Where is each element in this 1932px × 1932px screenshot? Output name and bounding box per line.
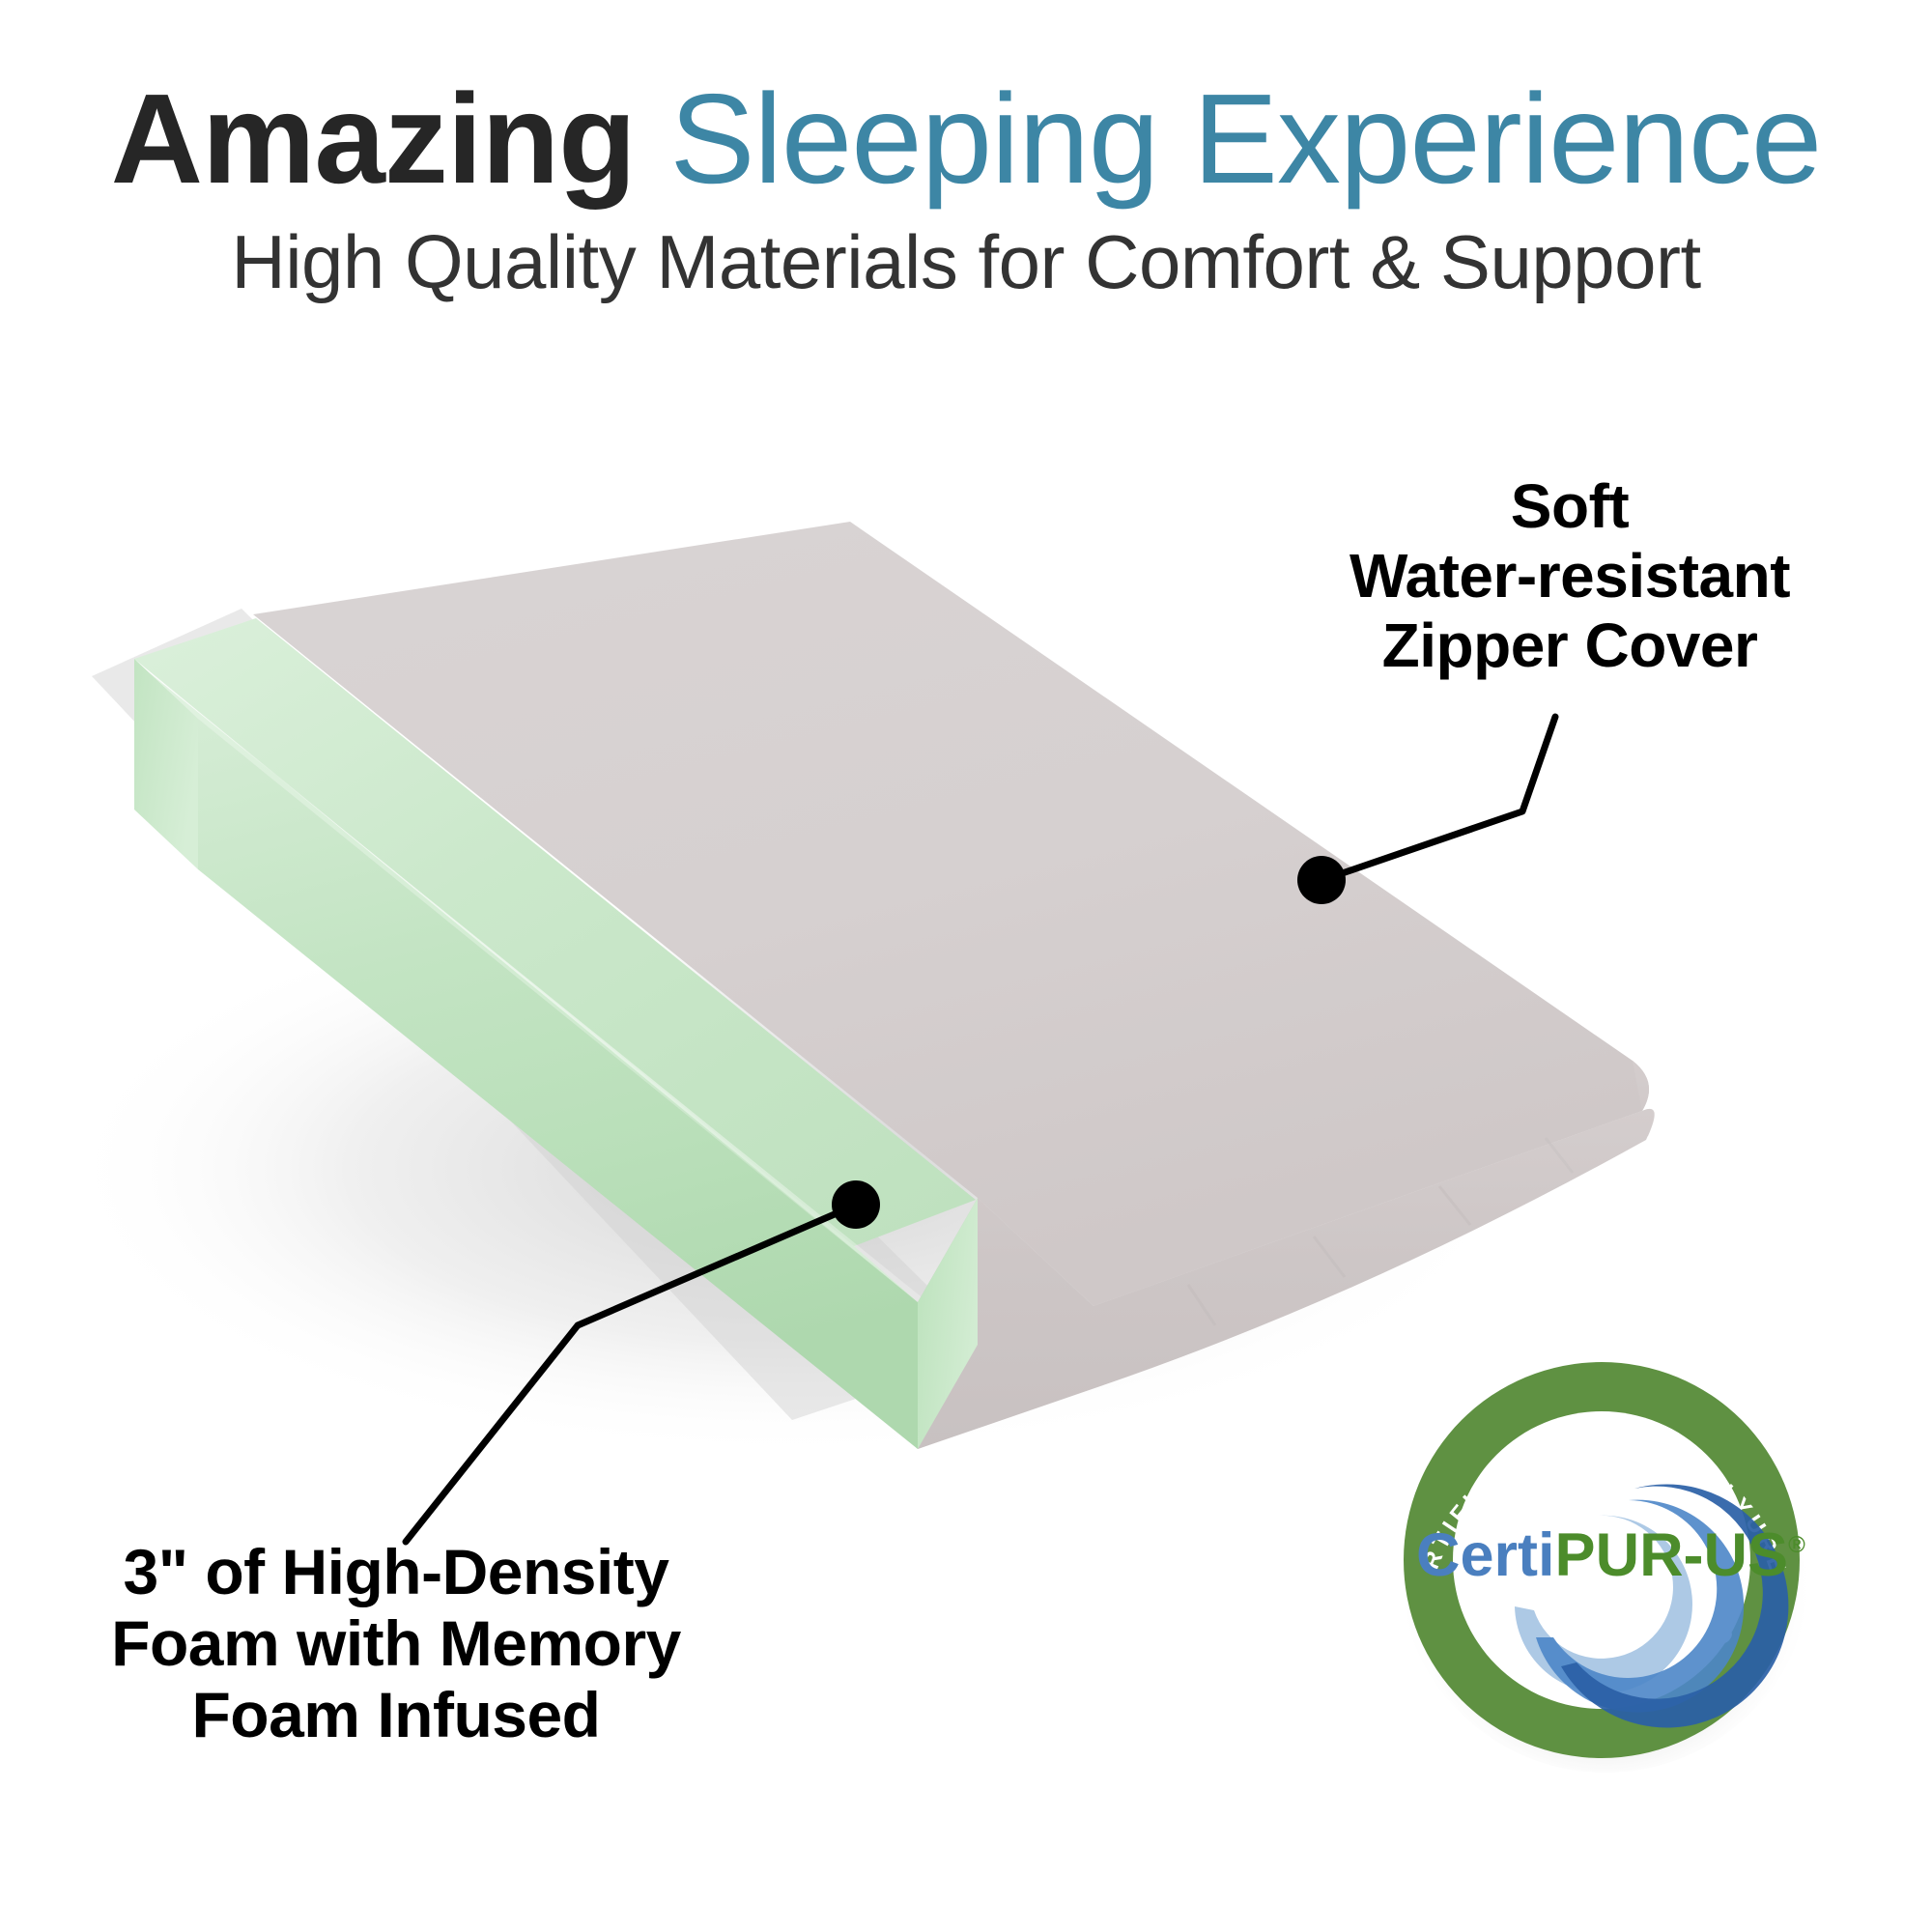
cover-leader-dot — [1297, 856, 1346, 904]
foam-leader-line — [406, 1207, 850, 1542]
infographic-canvas: Amazing Sleeping Experience High Quality… — [0, 0, 1932, 1932]
badge-registered-icon: ® — [1788, 1532, 1805, 1558]
callout-high-density-foam: 3" of High-Density Foam with Memory Foam… — [29, 1540, 763, 1754]
callout-cover-line-2: Water-resistant — [1270, 545, 1869, 607]
badge-wordmark: CertiPUR-US® — [1416, 1521, 1805, 1589]
callout-foam-line-2: Foam with Memory — [29, 1611, 763, 1675]
callout-zipper-cover: Soft Water-resistant Zipper Cover — [1270, 475, 1869, 684]
callout-foam-line-3: Foam Infused — [29, 1683, 763, 1747]
badge-wordmark-certi: Certi — [1416, 1521, 1555, 1589]
callout-foam-line-1: 3" of High-Density — [29, 1540, 763, 1604]
callout-cover-line-1: Soft — [1270, 475, 1869, 537]
callout-cover-line-3: Zipper Cover — [1270, 614, 1869, 676]
cover-leader-line — [1325, 717, 1555, 879]
badge-wordmark-purus: PUR-US — [1555, 1521, 1789, 1589]
foam-leader-dot — [832, 1180, 880, 1229]
certipur-us-badge: CONTAINS CERTIFIED FLEXIBLE POLYURETHANE… — [1391, 1348, 1816, 1773]
